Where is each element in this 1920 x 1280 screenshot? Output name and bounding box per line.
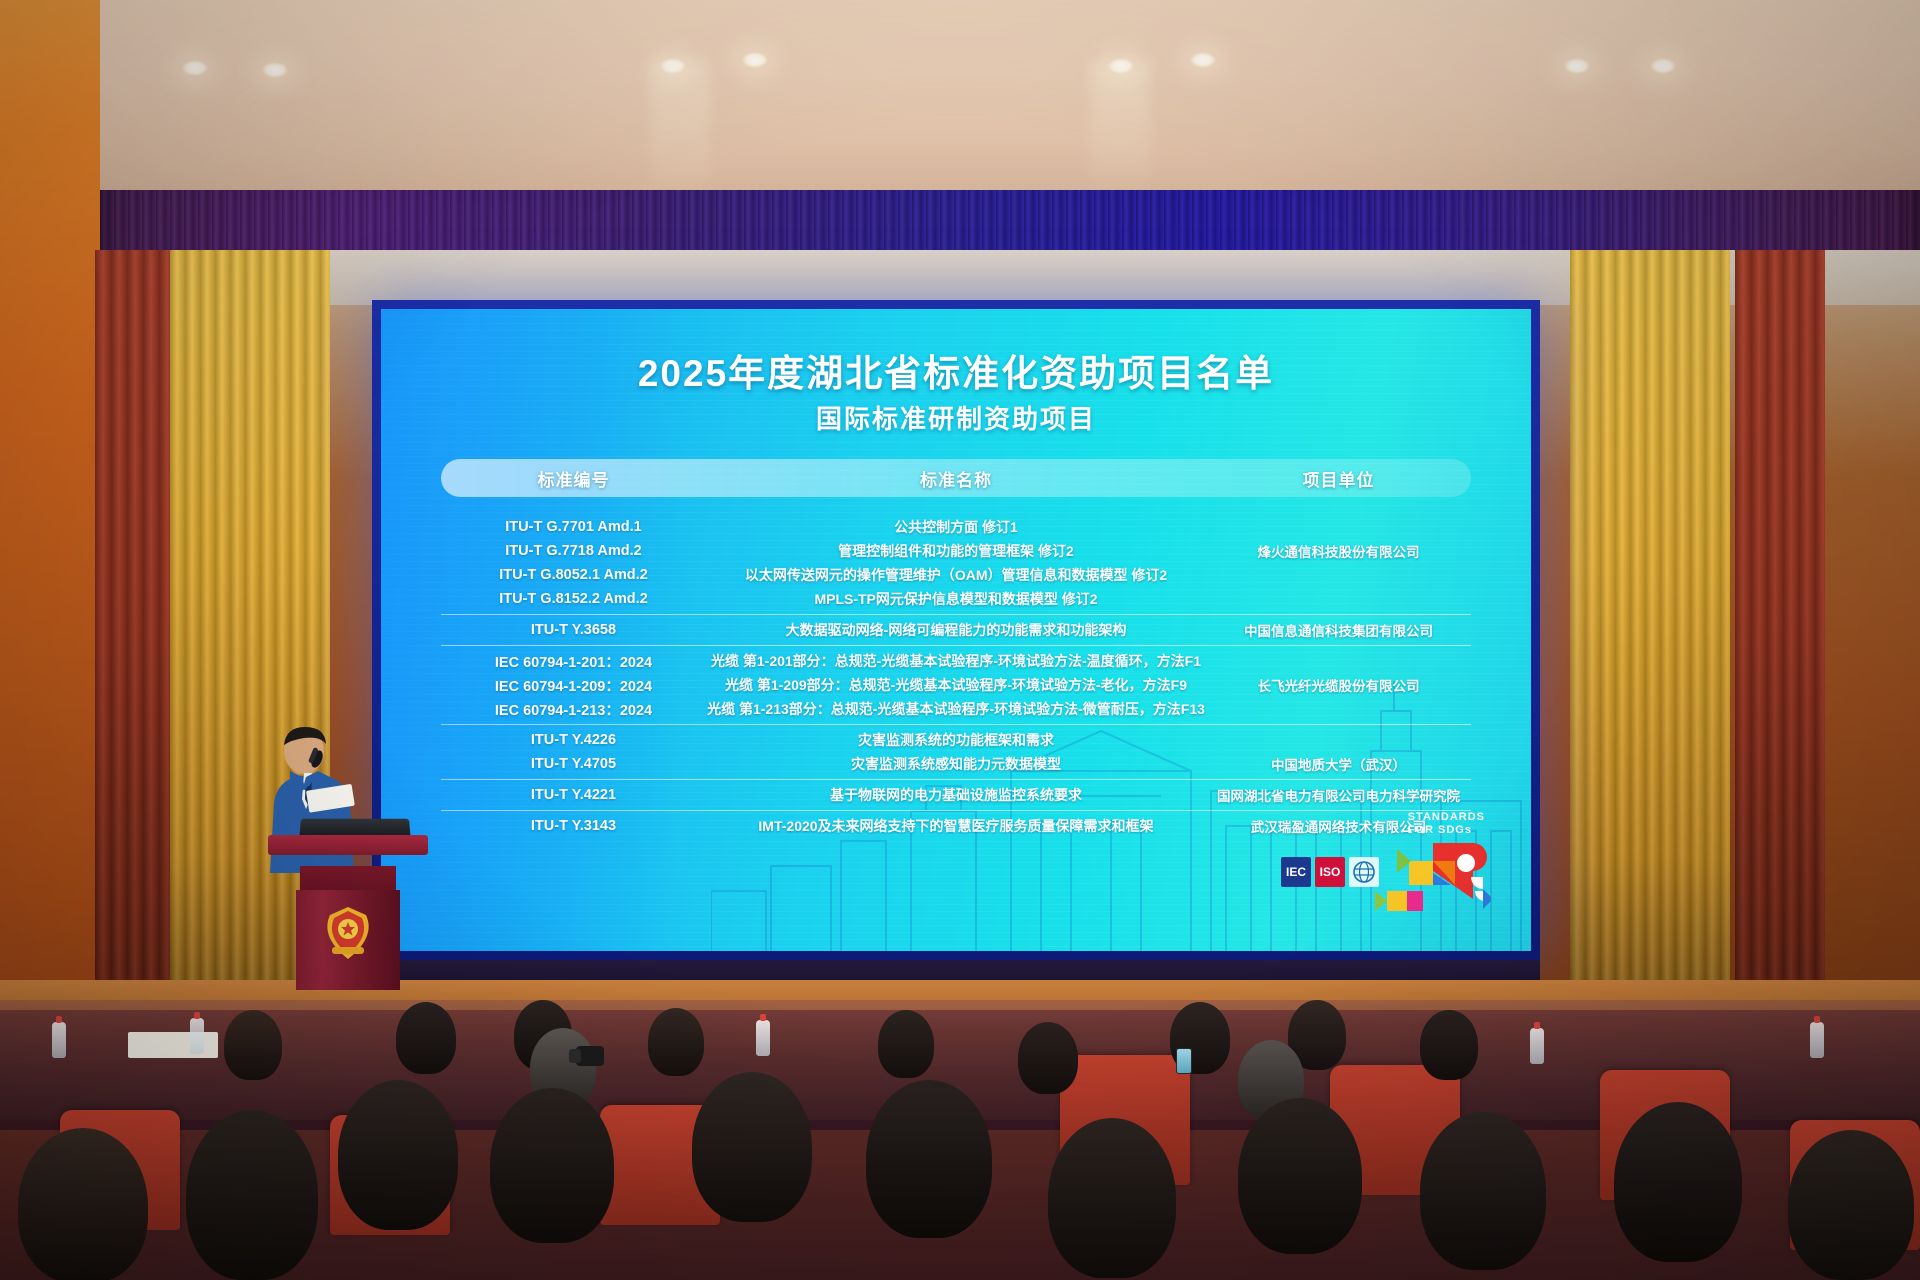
water-bottle — [1530, 1028, 1544, 1064]
conference-photo: 2025年度湖北省标准化资助项目名单 国际标准研制资助项目 标准编号 标准名称 … — [0, 0, 1920, 1280]
cell-org: 中国信息通信科技集团有限公司 — [1206, 620, 1471, 640]
downlight — [262, 62, 288, 78]
water-bottle — [756, 1020, 770, 1056]
audience-head — [692, 1072, 812, 1222]
audience-head — [1018, 1022, 1078, 1094]
table-row: ITU-T G.8052.1 Amd.2 以太网传送网元的操作管理维护（OAM）… — [441, 563, 1471, 587]
cell-name: 光缆 第1-201部分：总规范-光缆基本试验程序-环境试验方法-温度循环，方法F… — [706, 651, 1206, 671]
table-row: ITU-T G.7718 Amd.2 管理控制组件和功能的管理框架 修订2 烽火… — [441, 539, 1471, 563]
standards-for-sdgs-label: STANDARDS FOR SDGs — [1408, 811, 1485, 837]
table-row: ITU-T Y.4705 灾害监测系统感知能力元数据模型 中国地质大学（武汉） — [441, 752, 1471, 776]
cell-name: 基于物联网的电力基础设施监控系统要求 — [706, 785, 1206, 805]
table-row: ITU-T G.7701 Amd.1 公共控制方面 修订1 — [441, 515, 1471, 539]
water-bottle — [1810, 1022, 1824, 1058]
audience-phone — [1176, 1048, 1192, 1074]
org-badges: IEC ISO — [1281, 857, 1379, 887]
sdg-tangram-graphic — [1371, 835, 1491, 913]
cell-code: IEC 60794-1-209：2024 — [441, 675, 706, 696]
led-screen-bezel: 2025年度湖北省标准化资助项目名单 国际标准研制资助项目 标准编号 标准名称 … — [372, 300, 1540, 960]
iec-logo-icon: IEC — [1281, 857, 1311, 887]
row-divider — [441, 724, 1471, 725]
cell-org: 中国地质大学（武汉） — [1206, 754, 1471, 774]
audience-head — [1420, 1010, 1478, 1080]
table-row: IEC 60794-1-209：2024 光缆 第1-209部分：总规范-光缆基… — [441, 673, 1471, 697]
table-header-row: 标准编号 标准名称 项目单位 — [441, 459, 1471, 497]
audience-head — [1788, 1130, 1914, 1280]
led-screen[interactable]: 2025年度湖北省标准化资助项目名单 国际标准研制资助项目 标准编号 标准名称 … — [381, 309, 1531, 951]
cell-name: 灾害监测系统感知能力元数据模型 — [706, 754, 1206, 774]
cell-code: ITU-T Y.3658 — [441, 622, 706, 638]
standards-logos-group: STANDARDS FOR SDGs IEC ISO — [1281, 817, 1491, 917]
audience-head — [648, 1008, 704, 1076]
cell-code: ITU-T Y.3143 — [441, 818, 706, 834]
downlight — [1564, 58, 1590, 74]
audience-camera — [576, 1046, 604, 1066]
audience-head — [1420, 1112, 1546, 1270]
row-divider — [441, 614, 1471, 615]
iec-label: IEC — [1286, 867, 1306, 877]
audience-head — [1048, 1118, 1176, 1278]
cell-name: 公共控制方面 修订1 — [706, 517, 1206, 537]
funding-projects-table: 标准编号 标准名称 项目单位 ITU-T G.7701 Amd.1 公共控制方面… — [441, 459, 1471, 838]
desk-nameplate — [128, 1032, 218, 1058]
table-row: ITU-T Y.4226 灾害监测系统的功能框架和需求 — [441, 728, 1471, 752]
audience-head — [1238, 1098, 1362, 1254]
audience-head — [878, 1010, 934, 1078]
row-divider — [441, 645, 1471, 646]
audience-head — [186, 1110, 318, 1280]
water-bottle — [190, 1018, 204, 1054]
row-divider — [441, 810, 1471, 811]
sdg-line-1: STANDARDS — [1408, 811, 1485, 824]
cell-name: 大数据驱动网络-网络可编程能力的功能需求和功能架构 — [706, 620, 1206, 640]
audience-head — [490, 1088, 614, 1243]
table-row: IEC 60794-1-201：2024 光缆 第1-201部分：总规范-光缆基… — [441, 649, 1471, 673]
cell-name: 管理控制组件和功能的管理框架 修订2 — [706, 541, 1206, 561]
cell-code: ITU-T Y.4226 — [441, 732, 706, 748]
cell-name: MPLS-TP网元保护信息模型和数据模型 修订2 — [706, 589, 1206, 609]
podium-top — [268, 835, 428, 855]
column-header-code: 标准编号 — [441, 466, 706, 491]
cell-name: IMT-2020及未来网络支持下的智慧医疗服务质量保障需求和框架 — [706, 816, 1206, 836]
cell-code: IEC 60794-1-213：2024 — [441, 699, 706, 720]
side-curtain-gold-right — [1570, 250, 1730, 1010]
downlight — [182, 60, 208, 76]
table-row: ITU-T Y.4221 基于物联网的电力基础设施监控系统要求 国网湖北省电力有… — [441, 783, 1471, 807]
national-emblem-icon — [318, 905, 378, 963]
cell-org: 长飞光纤光缆股份有限公司 — [1206, 675, 1471, 695]
column-header-name: 标准名称 — [706, 466, 1206, 491]
column-header-org: 项目单位 — [1206, 466, 1471, 491]
table-row: ITU-T Y.3658 大数据驱动网络-网络可编程能力的功能需求和功能架构 中… — [441, 618, 1471, 642]
ceiling — [0, 0, 1920, 210]
cell-org: 烽火通信科技股份有限公司 — [1206, 541, 1471, 561]
water-bottle — [52, 1022, 66, 1058]
cell-org: 国网湖北省电力有限公司电力科学研究院 — [1206, 785, 1471, 805]
audience-head — [1614, 1102, 1742, 1262]
cell-name: 光缆 第1-213部分：总规范-光缆基本试验程序-环境试验方法-微管耐压，方法F… — [706, 699, 1206, 719]
cell-code: IEC 60794-1-201：2024 — [441, 651, 706, 672]
table-row: ITU-T G.8152.2 Amd.2 MPLS-TP网元保护信息模型和数据模… — [441, 587, 1471, 611]
audience-head — [338, 1080, 458, 1230]
audience-head — [396, 1002, 456, 1074]
cell-code: ITU-T G.8052.1 Amd.2 — [441, 567, 706, 583]
audience-head — [18, 1128, 148, 1280]
slide-subtitle: 国际标准研制资助项目 — [381, 399, 1531, 436]
cell-code: ITU-T G.8152.2 Amd.2 — [441, 591, 706, 607]
iso-label: ISO — [1320, 865, 1341, 879]
table-body: ITU-T G.7701 Amd.1 公共控制方面 修订1 ITU-T G.77… — [441, 515, 1471, 838]
row-divider — [441, 779, 1471, 780]
cell-code: ITU-T Y.4221 — [441, 787, 706, 803]
downlight — [1190, 52, 1216, 68]
cell-name: 灾害监测系统的功能框架和需求 — [706, 730, 1206, 750]
side-curtain-red-right — [1735, 250, 1825, 1010]
iso-logo-icon: ISO — [1315, 857, 1345, 887]
cell-name: 光缆 第1-209部分：总规范-光缆基本试验程序-环境试验方法-老化，方法F9 — [706, 675, 1206, 695]
cell-code: ITU-T G.7701 Amd.1 — [441, 519, 706, 535]
audience-head — [224, 1010, 282, 1080]
table-row: IEC 60794-1-213：2024 光缆 第1-213部分：总规范-光缆基… — [441, 697, 1471, 721]
audience-head — [866, 1080, 992, 1238]
downlight — [1650, 58, 1676, 74]
downlight — [742, 52, 768, 68]
cell-code: ITU-T Y.4705 — [441, 756, 706, 772]
cell-name: 以太网传送网元的操作管理维护（OAM）管理信息和数据模型 修订2 — [706, 565, 1206, 585]
slide-title: 2025年度湖北省标准化资助项目名单 — [381, 343, 1531, 397]
cell-code: ITU-T G.7718 Amd.2 — [441, 543, 706, 559]
